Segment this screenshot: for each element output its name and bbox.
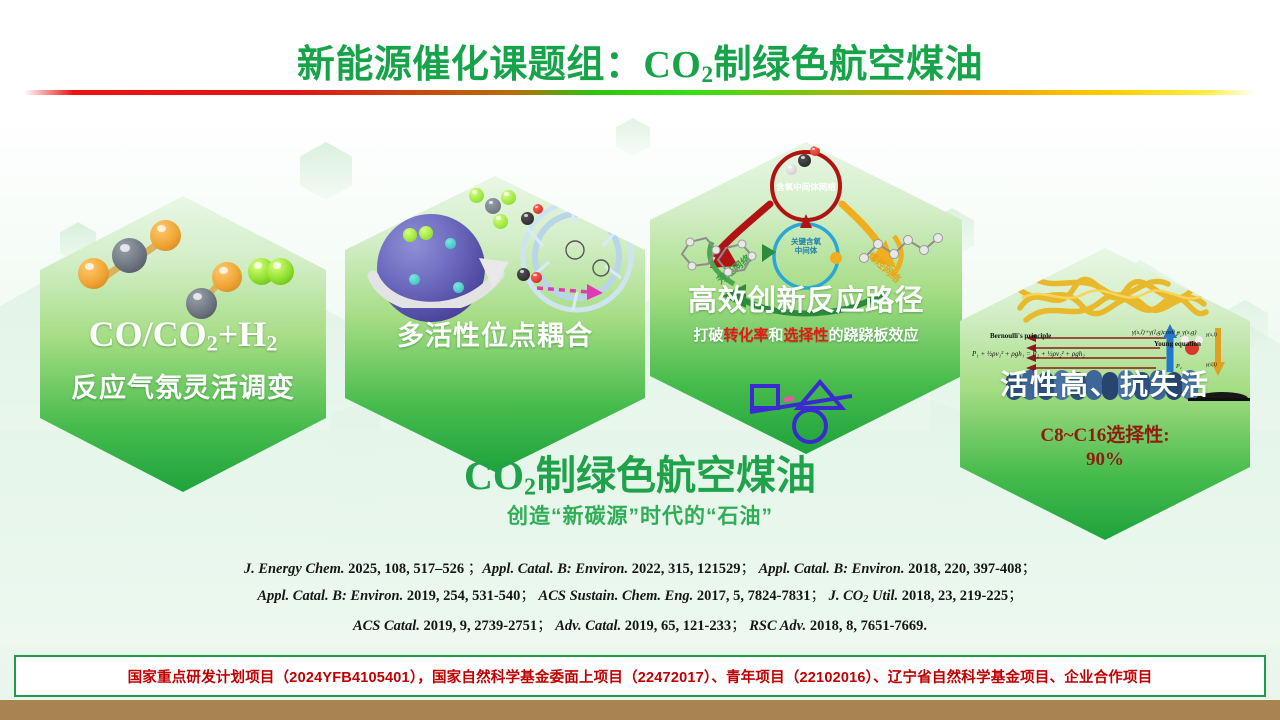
svg-text:P₁ + ½ρv₁² + ρgh₁ = P₂ + ½ρv₂²: P₁ + ½ρv₁² + ρgh₁ = P₂ + ½ρv₂² + ρgh₂ [971,350,1085,358]
reference-line: Appl. Catal. B: Environ. 2019, 254, 531-… [60,583,1220,613]
slide-root: 新能源催化课题组：CO2制绿色航空煤油 CO/CO2+H2 反应气氛灵活调变 [0,0,1280,720]
center-subline: 创造“新碳源”时代的“石油” [0,500,1280,530]
card-pathway-highlight-selectivity: 选择性 [784,327,829,344]
card-stability-label: 活性高、抗失活 [972,370,1239,399]
card-multisite-label: 多活性位点耦合 [357,322,633,350]
center-headline: CO2制绿色航空煤油 [0,443,1280,501]
svg-text:中间体: 中间体 [795,245,818,255]
page-title-text: 新能源催化课题组： [297,44,644,86]
aromatic-molecule-icon [668,234,760,290]
funding-text: 国家重点研发计划项目（2024YFB4105401），国家自然科学基金委面上项目… [128,666,1153,687]
page-title-formula: CO2 [643,44,713,86]
diffusion-arrow-icon [535,274,615,300]
svg-text:含氧中间体网络: 含氧中间体网络 [775,182,836,192]
page-title-formula-tail: 制绿色航空煤油 [714,44,984,86]
header-divider [24,90,1256,95]
center-headline-formula: CO2 [464,453,536,498]
card-pathway-label: 高效创新反应路径 [662,286,949,316]
atom-oxygen [212,262,242,292]
atom-hydrogen [267,258,294,285]
funding-banner: 国家重点研发计划项目（2024YFB4105401），国家自然科学基金委面上项目… [14,655,1266,697]
background-hex-2 [300,142,352,200]
page-title: 新能源催化课题组：CO2制绿色航空煤油 [0,33,1280,89]
atom-oxygen [150,220,181,251]
svg-text:γ(s,l): γ(s,l) [1206,361,1217,368]
svg-text:关键含氧: 关键含氧 [791,236,821,246]
svg-text:γ(s,l)+γ(l,g)cosθ = γ(s,g): γ(s,l)+γ(l,g)cosθ = γ(s,g) [1132,329,1197,336]
bottom-bar [0,700,1280,720]
olefin-molecule-icon [856,232,948,288]
card-feedstock-formula: CO/CO2+H2 [51,316,314,355]
atom-oxygen [78,258,109,289]
reference-list: J. Energy Chem. 2025, 108, 517–526 ；Appl… [60,556,1220,640]
card-pathway-highlight-conversion: 转化率 [723,327,768,344]
card-feedstock-label: 反应气氛灵活调变 [51,374,314,402]
card-pathway-sublabel: 打破转化率和选择性的跷跷板效应 [662,324,949,345]
reference-line: J. Energy Chem. 2025, 108, 517–526 ；Appl… [60,556,1220,583]
reference-line: ACS Catal. 2019, 9, 2739-2751； Adv. Cata… [60,613,1220,640]
young-equation-icon: γ(s,l)+γ(l,g)cosθ = γ(s,g) Young equatio… [1128,324,1248,352]
svg-text:Bernoulli's principle: Bernoulli's principle [990,332,1051,340]
flow-arrow-icon [367,218,527,308]
svg-text:Young equation: Young equation [1154,340,1201,348]
background-hex-3 [616,118,650,156]
atom-carbon [112,238,147,273]
